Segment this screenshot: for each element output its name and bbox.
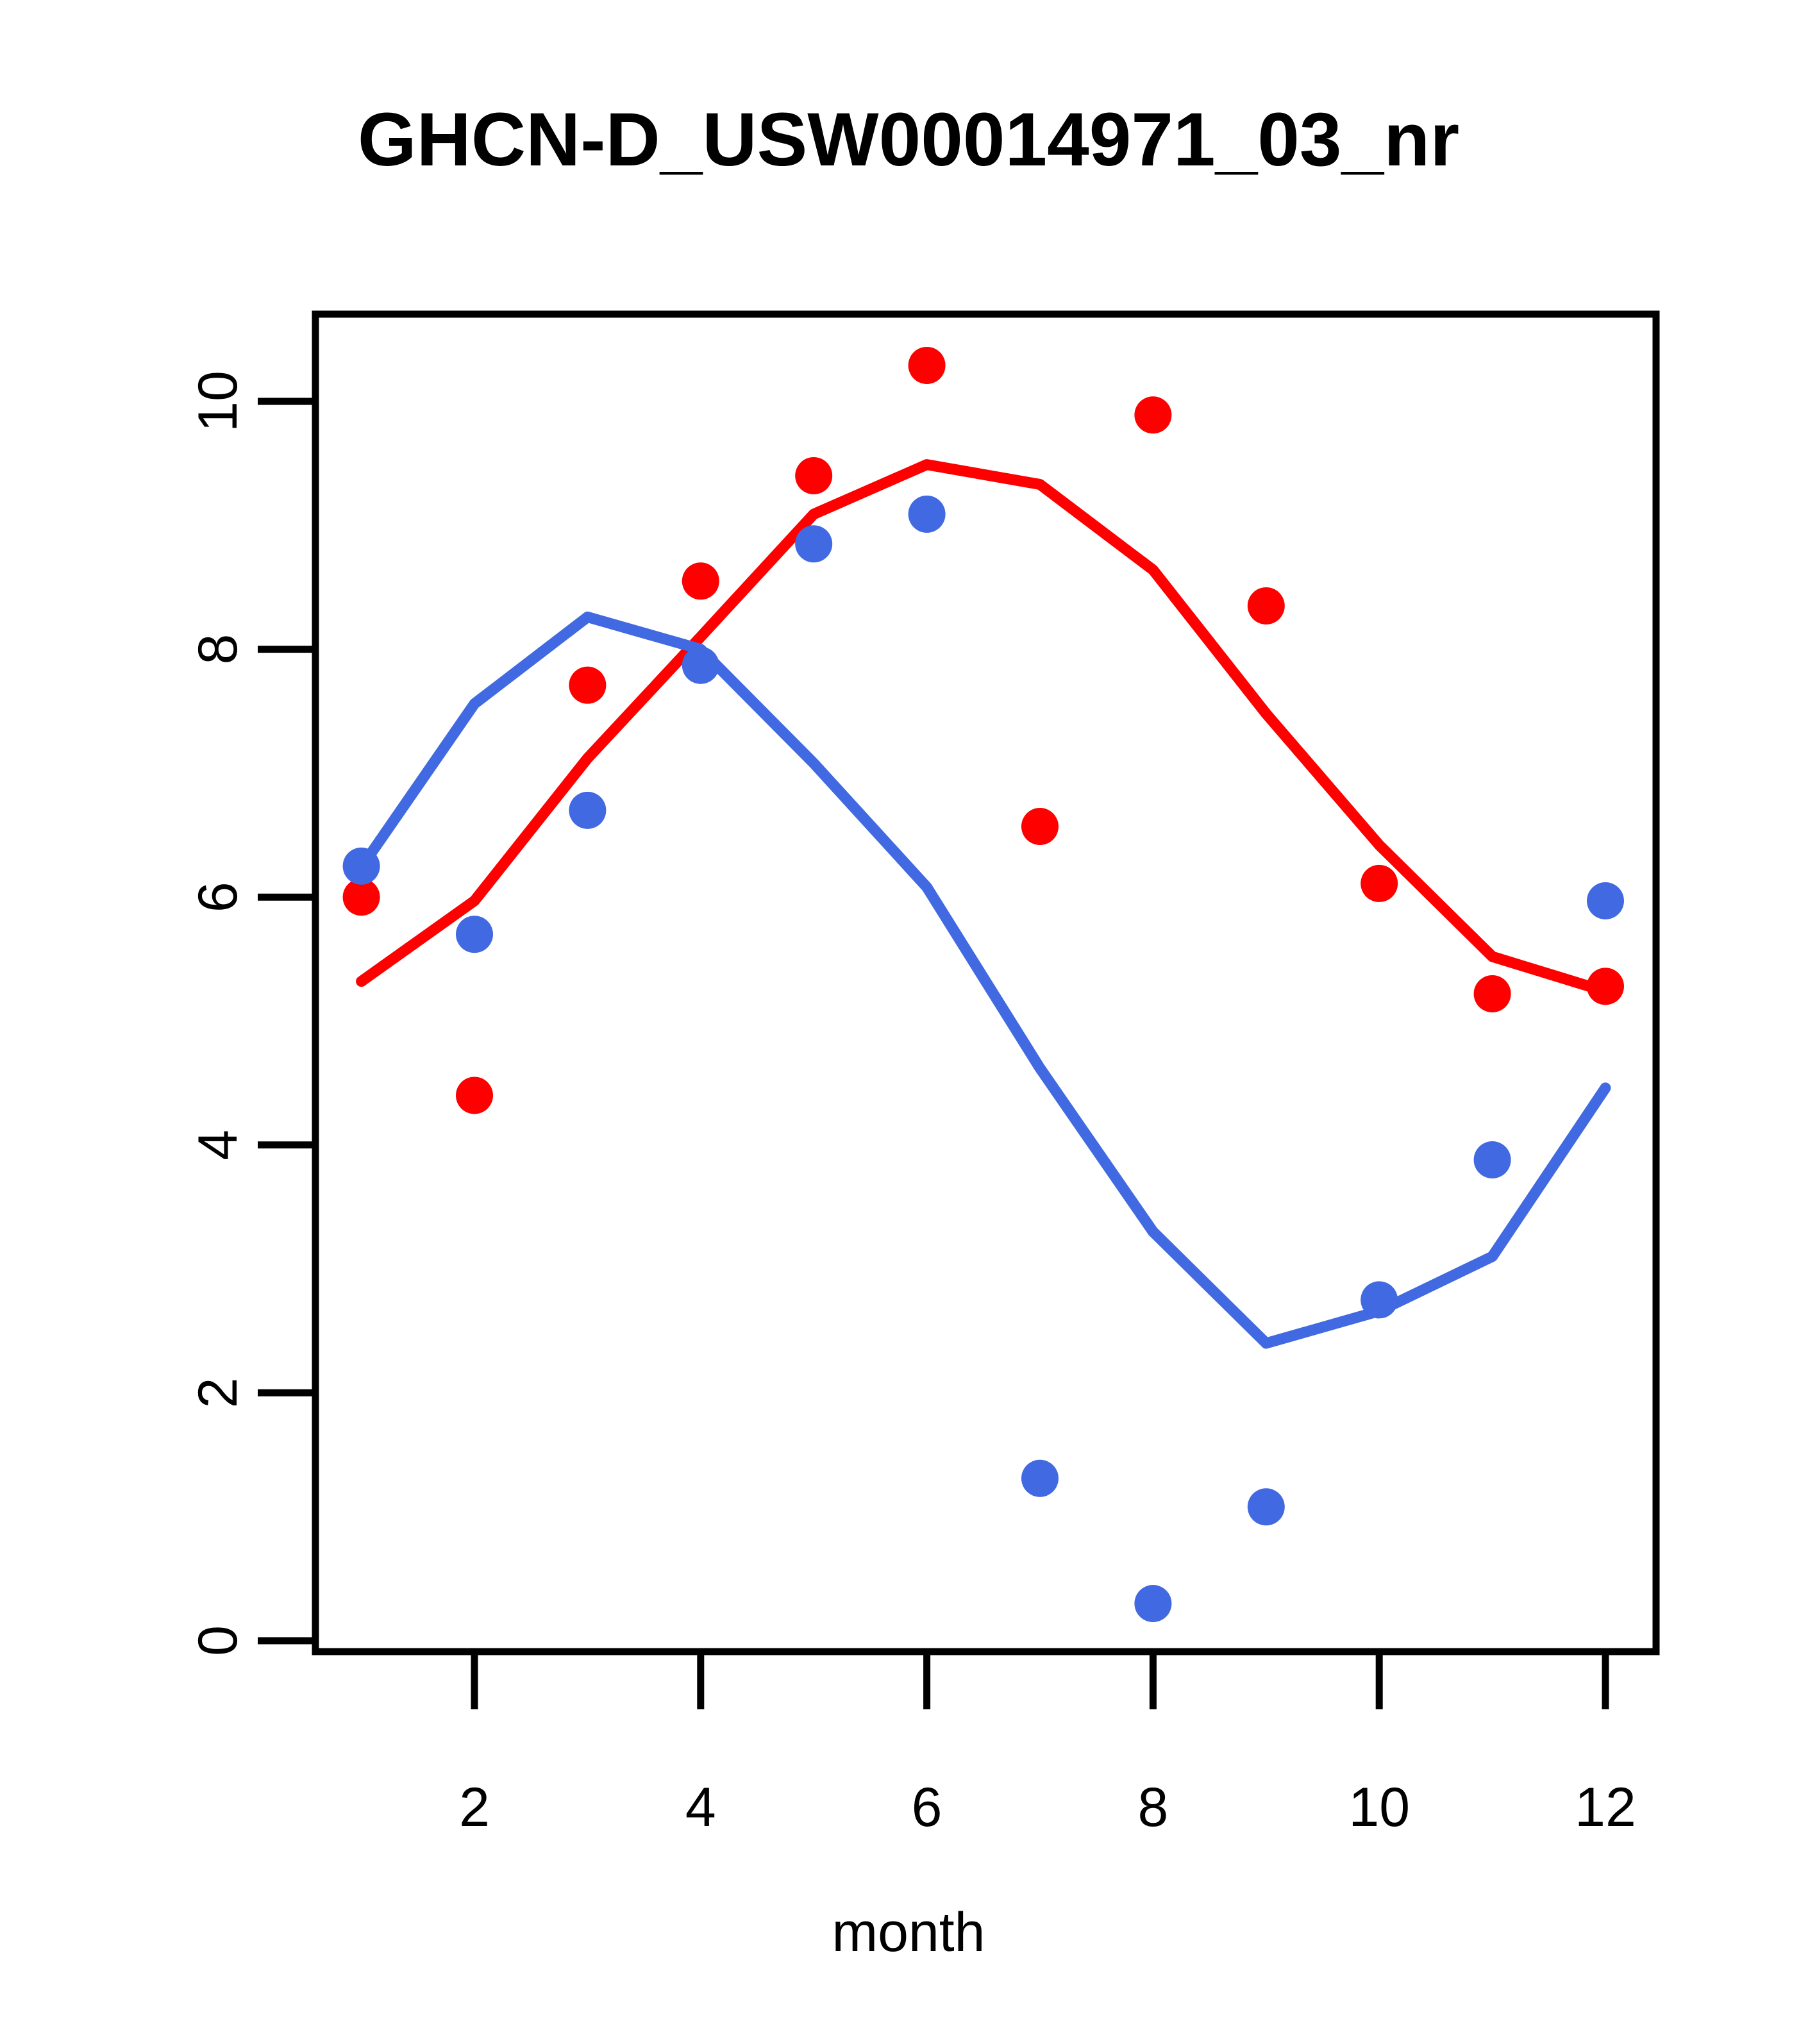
data-point-blue-points [569, 792, 606, 829]
data-point-blue-points [795, 525, 832, 562]
data-point-blue-points [1474, 1141, 1511, 1178]
y-tick-label: 2 [187, 1377, 249, 1408]
data-point-red-points [569, 667, 606, 704]
y-tick-label: 0 [187, 1625, 249, 1656]
data-point-red-points [1474, 975, 1511, 1012]
chart-figure: GHCN-D_USW00014971_03_nr 24681012 024681… [0, 0, 1817, 2044]
data-point-red-points [1248, 587, 1285, 624]
x-tick-label: 6 [912, 1777, 942, 1838]
y-axis-ticks [258, 401, 315, 1641]
data-point-red-points [1021, 808, 1059, 845]
series-lines [362, 465, 1605, 1343]
data-point-red-points [1587, 968, 1624, 1005]
data-point-blue-points [682, 647, 719, 684]
data-point-red-points [908, 347, 946, 384]
data-point-blue-points [343, 848, 380, 885]
series-line-blue-line [362, 617, 1605, 1343]
y-tick-label: 10 [187, 371, 249, 432]
data-point-red-points [1134, 396, 1171, 433]
data-point-red-points [795, 457, 832, 494]
y-axis-tick-labels: 0246810 [187, 371, 249, 1656]
x-tick-label: 12 [1575, 1777, 1636, 1838]
x-tick-label: 2 [459, 1777, 490, 1838]
data-point-blue-points [1248, 1488, 1285, 1525]
y-tick-label: 8 [187, 634, 249, 665]
data-point-blue-points [908, 496, 946, 533]
data-point-red-points [456, 1076, 493, 1114]
y-tick-label: 6 [187, 882, 249, 912]
data-point-blue-points [1361, 1281, 1398, 1318]
x-tick-label: 4 [685, 1777, 716, 1838]
data-point-blue-points [456, 916, 493, 953]
x-axis-label: month [0, 1901, 1817, 1964]
x-axis-ticks [474, 1652, 1605, 1709]
data-point-red-points [682, 562, 719, 599]
x-tick-label: 8 [1137, 1777, 1168, 1838]
plot-area: 24681012 0246810 [0, 0, 1817, 2044]
data-point-blue-points [1587, 882, 1624, 919]
data-point-red-points [1361, 865, 1398, 902]
x-tick-label: 10 [1348, 1777, 1410, 1838]
data-point-blue-points [1134, 1585, 1171, 1622]
series-line-red-line [362, 465, 1605, 992]
data-point-blue-points [1021, 1460, 1059, 1497]
y-tick-label: 4 [187, 1130, 249, 1160]
x-axis-tick-labels: 24681012 [459, 1777, 1636, 1838]
